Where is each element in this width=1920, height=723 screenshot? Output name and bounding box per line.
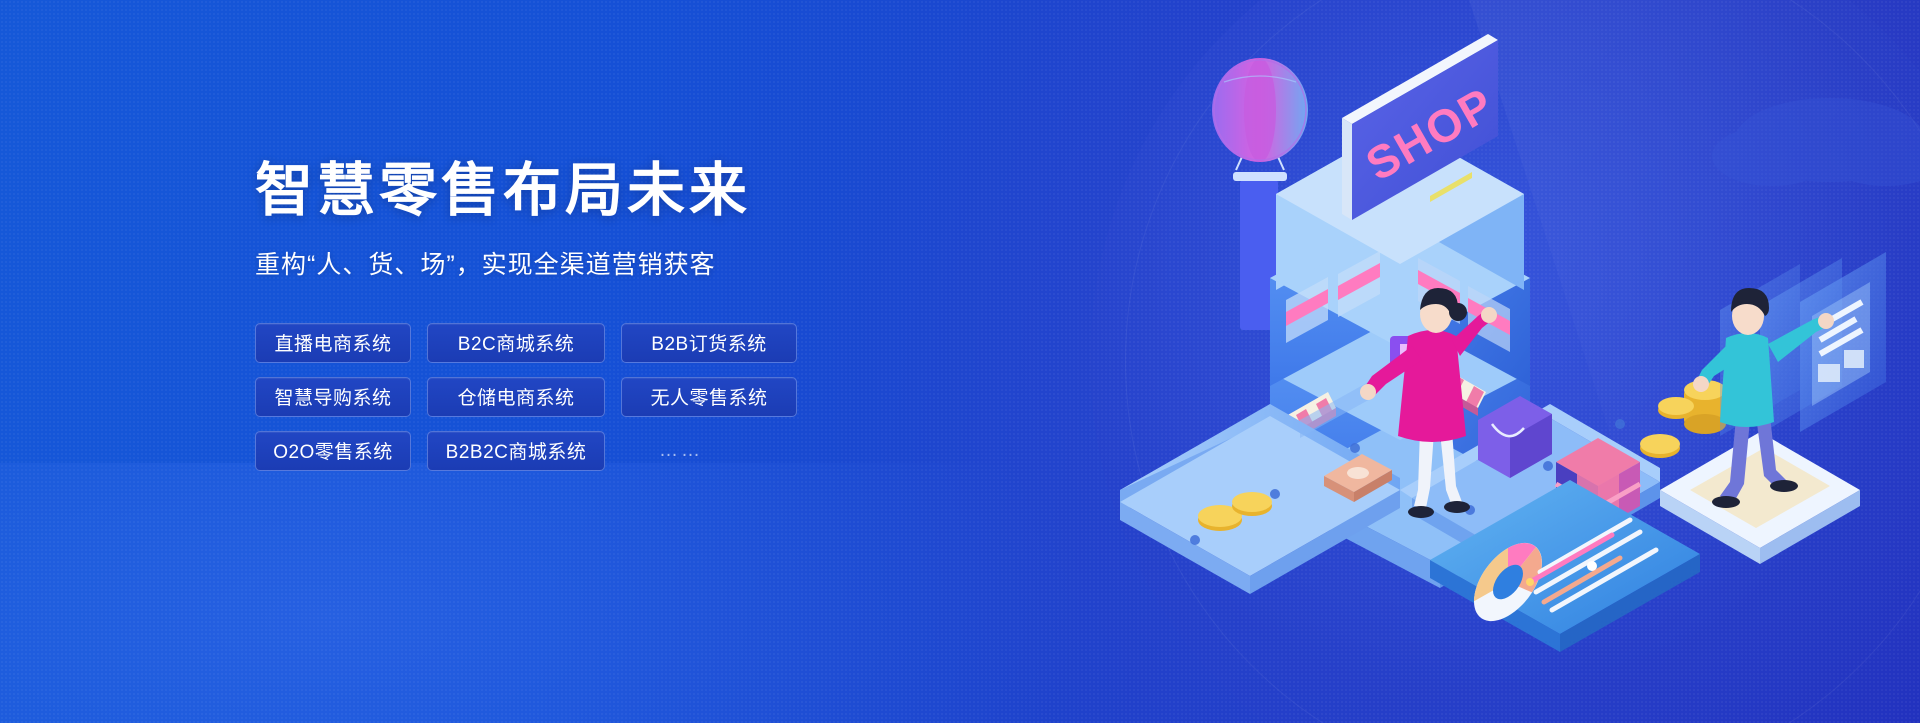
tag-row: 智慧导购系统 仓储电商系统 无人零售系统 <box>255 377 895 417</box>
tag-more-ellipsis: …… <box>621 431 741 471</box>
cloud-shape <box>1712 98 1920 186</box>
tag-row: O2O零售系统 B2B2C商城系统 …… <box>255 431 895 471</box>
tag-b2c-mall[interactable]: B2C商城系统 <box>427 323 605 363</box>
tag-live-ecommerce[interactable]: 直播电商系统 <box>255 323 411 363</box>
hero-banner: 智慧零售布局未来 重构“人、货、场”，实现全渠道营销获客 直播电商系统 B2C商… <box>0 0 1920 723</box>
product-tag-grid: 直播电商系统 B2C商城系统 B2B订货系统 智慧导购系统 仓储电商系统 无人零… <box>255 323 895 471</box>
page-subtitle: 重构“人、货、场”，实现全渠道营销获客 <box>255 245 895 281</box>
page-title: 智慧零售布局未来 <box>255 160 895 223</box>
tag-o2o-retail[interactable]: O2O零售系统 <box>255 431 411 471</box>
gold-coins-right <box>1640 380 1726 458</box>
tag-unmanned-retail[interactable]: 无人零售系统 <box>621 377 797 417</box>
retail-illustration: SHOP <box>1100 20 1920 710</box>
tag-warehouse-ecom[interactable]: 仓储电商系统 <box>427 377 605 417</box>
background-glow <box>0 463 1100 723</box>
tag-smart-guide[interactable]: 智慧导购系统 <box>255 377 411 417</box>
copy-block: 智慧零售布局未来 重构“人、货、场”，实现全渠道营销获客 直播电商系统 B2C商… <box>255 160 895 485</box>
tag-b2b2c-mall[interactable]: B2B2C商城系统 <box>427 431 605 471</box>
tag-b2b-ordering[interactable]: B2B订货系统 <box>621 323 797 363</box>
tag-row: 直播电商系统 B2C商城系统 B2B订货系统 <box>255 323 895 363</box>
